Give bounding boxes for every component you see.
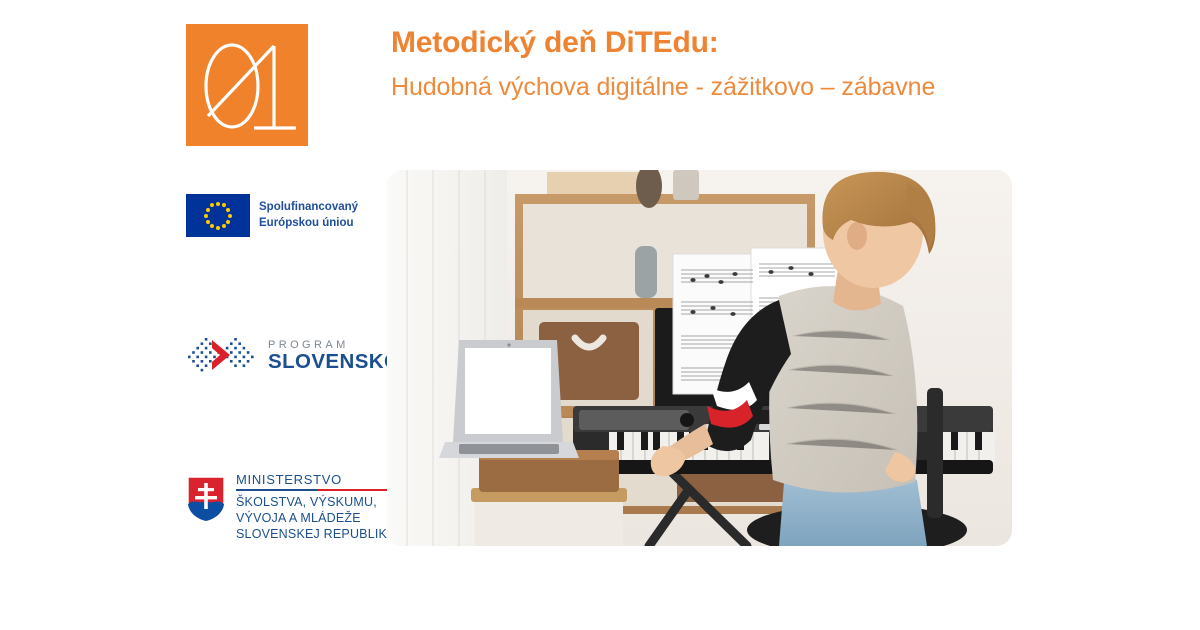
program-slovensko-dot <box>205 347 208 350</box>
program-slovensko-dot <box>209 360 212 363</box>
program-slovensko-dot <box>205 356 208 359</box>
program-slovensko-dot <box>234 356 237 359</box>
eu-star-icon <box>222 224 226 228</box>
eu-star-icon <box>210 203 214 207</box>
eu-star-icon <box>222 203 226 207</box>
program-slovensko-dot <box>201 360 204 363</box>
program-slovensko-dot <box>213 356 216 359</box>
program-slovensko-text: PROGRAM SLOVENSKO <box>268 340 400 373</box>
program-slovensko-dot <box>238 351 241 354</box>
program-slovensko-dot <box>196 364 199 367</box>
program-slovensko-mark-icon <box>186 332 258 380</box>
program-slovensko-dot <box>205 364 208 367</box>
eu-star-icon <box>216 202 220 206</box>
ministry-text: MINISTERSTVO ŠKOLSTVA, VÝSKUMU, VÝVOJA A… <box>236 473 396 543</box>
program-slovensko-dot <box>226 347 229 350</box>
program-slovensko-dot <box>234 338 237 341</box>
program-slovensko-dot <box>230 342 233 345</box>
program-slovensko-dot <box>192 360 195 363</box>
program-slovensko-dot <box>205 338 208 341</box>
page-subtitle: Hudobná výchova digitálne - zážitkovo – … <box>391 70 991 105</box>
eu-star-icon <box>226 208 230 212</box>
eu-star-icon <box>206 208 210 212</box>
eu-flag-icon <box>186 194 250 237</box>
program-slovensko-dot <box>209 351 212 354</box>
eu-text-line1: Spolufinancovaný <box>259 200 358 215</box>
boy-playing-keyboard-photo <box>387 170 1012 546</box>
program-slovensko-line2: SLOVENSKO <box>268 352 400 373</box>
eu-text-line2: Európskou úniou <box>259 216 358 231</box>
program-slovensko-dot <box>238 342 241 345</box>
program-slovensko-dot <box>201 351 204 354</box>
eu-cofunding-text: Spolufinancovaný Európskou úniou <box>259 200 358 230</box>
program-slovensko-dot <box>238 360 241 363</box>
ministry-line1: MINISTERSTVO <box>236 473 396 486</box>
hero-photo <box>387 170 1012 546</box>
program-slovensko-dot <box>201 342 204 345</box>
ministry-line2: ŠKOLSTVA, VÝSKUMU, <box>236 495 396 511</box>
program-slovensko-logo: PROGRAM SLOVENSKO <box>186 332 400 380</box>
program-slovensko-dot <box>192 351 195 354</box>
partner-logo-bar: DiTEdu digitálna transformácia vzdelávan… <box>0 552 1200 614</box>
eu-cofunding-logo: Spolufinancovaný Európskou úniou <box>186 194 358 237</box>
program-slovensko-dot <box>243 347 246 350</box>
eu-star-icon <box>210 224 214 228</box>
program-slovensko-dot <box>230 360 233 363</box>
program-slovensko-dot <box>247 360 250 363</box>
program-slovensko-dot <box>201 369 204 372</box>
program-slovensko-dot <box>188 356 191 359</box>
eu-star-icon <box>228 214 232 218</box>
eu-star-icon <box>204 214 208 218</box>
program-slovensko-dot <box>234 364 237 367</box>
program-slovensko-dot <box>247 351 250 354</box>
ministry-line3: VÝVOJA A MLÁDEŽE <box>236 511 396 527</box>
program-slovensko-dot <box>230 351 233 354</box>
zero-one-glyph-icon <box>186 24 308 146</box>
ditedu-01-logo <box>186 24 308 146</box>
slovak-coat-of-arms-icon <box>186 475 226 522</box>
program-slovensko-dot <box>251 356 254 359</box>
ministry-line4: SLOVENSKEJ REPUBLIKY <box>236 527 396 543</box>
program-slovensko-dot <box>209 342 212 345</box>
eu-star-icon <box>216 226 220 230</box>
program-slovensko-dot <box>196 347 199 350</box>
ministry-logo: MINISTERSTVO ŠKOLSTVA, VÝSKUMU, VÝVOJA A… <box>186 473 396 543</box>
program-slovensko-dot <box>234 347 237 350</box>
eu-star-icon <box>226 220 230 224</box>
program-slovensko-dot <box>243 364 246 367</box>
program-slovensko-dot <box>243 356 246 359</box>
program-slovensko-dot <box>196 356 199 359</box>
ministry-divider <box>236 489 394 492</box>
poster-canvas: Metodický deň DiTEdu: Hudobná výchova di… <box>0 0 1200 630</box>
title-block: Metodický deň DiTEdu: Hudobná výchova di… <box>391 26 991 104</box>
page-title: Metodický deň DiTEdu: <box>391 26 991 61</box>
eu-star-icon <box>206 220 210 224</box>
